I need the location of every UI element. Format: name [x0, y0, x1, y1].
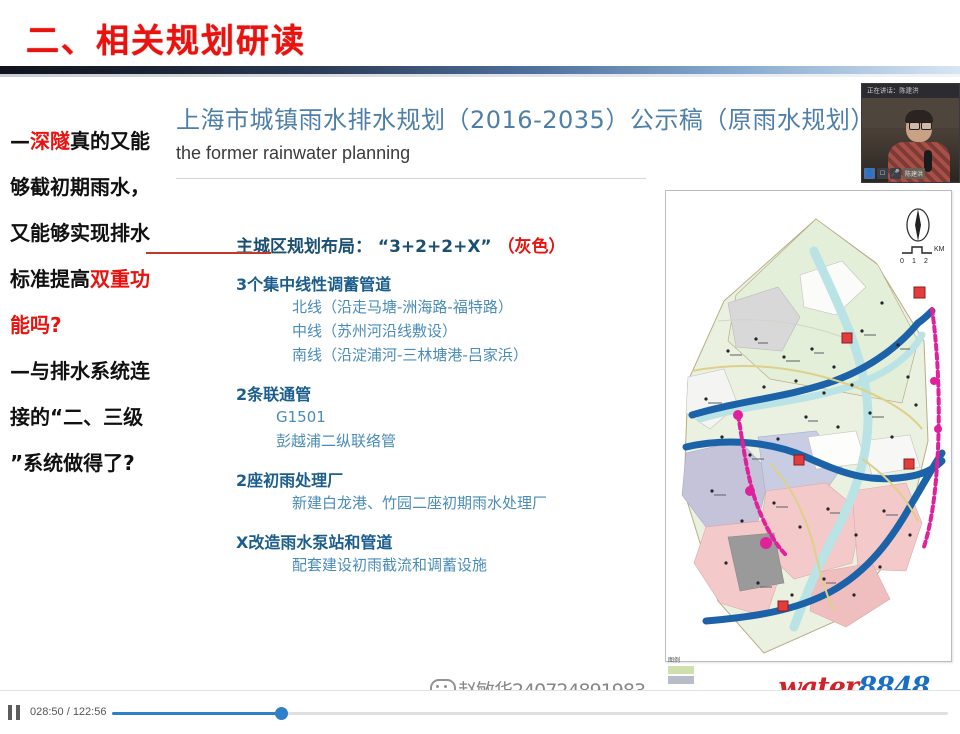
group-head-1: 3个集中线性调蓄管道: [236, 271, 636, 295]
planning-map-panel: KM 0 1 2: [665, 190, 952, 662]
slide-heading-english: the former rainwater planning: [176, 143, 410, 164]
left-line-4-rest: 标准提高: [10, 267, 90, 291]
video-player-bar: 028:50 / 122:56: [0, 690, 960, 734]
share-icon[interactable]: □: [877, 168, 888, 179]
speaker-name-label: 正在讲话：陈建洪: [867, 86, 919, 95]
page-title: 二、相关规划研读: [26, 14, 306, 62]
formula-underline: [146, 252, 271, 254]
heading-underline: [176, 178, 646, 179]
eyeglasses-right-icon: [921, 122, 932, 130]
map-legend-title: 图例: [668, 655, 748, 664]
planning-content-block: 主城区规划布局： “3+2+2+X” （灰色） 3个集中线性调蓄管道 北线（沿走…: [236, 232, 636, 577]
title-divider-shadow: [0, 74, 960, 77]
wechat-watermark: 赵敏华240724891983: [430, 676, 645, 690]
dash-mark: —: [10, 129, 30, 153]
progress-knob[interactable]: [275, 707, 288, 720]
layout-headline: 主城区规划布局： “3+2+2+X” （灰色）: [236, 232, 636, 257]
map-legend: 图例: [668, 655, 748, 687]
svg-text:1: 1: [912, 258, 916, 265]
pause-bar-left: [8, 705, 12, 720]
video-control-icons[interactable]: 👤 □ 🎤 陈建洪: [864, 168, 925, 179]
eyeglasses-left-icon: [909, 122, 920, 130]
left-question-line-2: 够截初期雨水，: [10, 164, 192, 210]
speaker-name-tag: 陈建洪: [903, 168, 925, 179]
microphone-prop: [924, 150, 932, 172]
pause-button[interactable]: [8, 705, 22, 720]
group-head-3: 2座初雨处理厂: [236, 467, 636, 491]
group-4-item-1: 配套建设初雨截流和调蓄设施: [292, 553, 636, 577]
group-head-4: X改造雨水泵站和管道: [236, 529, 636, 553]
speaker-video-thumbnail[interactable]: 正在讲话：陈建洪 👤 □ 🎤 陈建洪: [861, 83, 960, 183]
title-divider-bar: [0, 66, 960, 74]
layout-label: 主城区规划布局：: [236, 237, 372, 257]
left-question-line-1: —深隧真的又能: [10, 118, 192, 164]
speaker-label-bar: 正在讲话：陈建洪: [862, 84, 959, 98]
group-1-item-1: 北线（沿走马塘-洲海路-福特路）: [292, 295, 636, 319]
brand-water-word: water: [779, 672, 859, 690]
group-3-item-1: 新建白龙港、竹园二座初期雨水处理厂: [292, 491, 636, 515]
brand-water-text: water8848.com: [779, 672, 953, 690]
playback-time: 028:50 / 122:56: [30, 706, 106, 718]
wechat-icon: [430, 679, 456, 690]
layout-formula: “3+2+2+X”: [378, 237, 492, 257]
svg-text:2: 2: [924, 258, 928, 265]
group-1-item-2: 中线（苏州河沿线敷设）: [292, 319, 636, 343]
planning-map-svg: KM 0 1 2: [666, 191, 949, 659]
left-question-line-3: 又能够实现排水: [10, 210, 192, 256]
left-question-column: —深隧真的又能 够截初期雨水， 又能够实现排水 标准提高双重功 能吗? —与排水…: [10, 118, 192, 486]
legend-swatch-grey: [668, 676, 694, 684]
left-question-line-4: 标准提高双重功: [10, 256, 192, 302]
group-1-item-3: 南线（沿淀浦河-三林塘港-吕家浜）: [292, 343, 636, 367]
group-head-2: 2条联通管: [236, 381, 636, 405]
presentation-slide: 二、相关规划研读 —深隧真的又能 够截初期雨水， 又能够实现排水 标准提高双重功…: [0, 0, 960, 690]
left-question-line-6: —与排水系统连: [10, 348, 192, 394]
video-feed: 👤 □ 🎤 陈建洪: [862, 98, 959, 182]
progress-track[interactable]: [112, 712, 948, 715]
participant-icon[interactable]: 👤: [864, 168, 875, 179]
left-line-1-red: 深隧: [30, 129, 70, 153]
left-question-line-7: 接的“二、三级: [10, 394, 192, 440]
svg-text:KM: KM: [934, 246, 945, 253]
progress-fill: [112, 712, 281, 715]
brand-digits: 8848: [858, 672, 929, 690]
svg-text:0: 0: [900, 258, 904, 265]
left-question-line-8: ”系统做得了?: [10, 440, 192, 486]
pause-bar-right: [16, 705, 20, 720]
mic-icon[interactable]: 🎤: [890, 168, 901, 179]
legend-swatch-green: [668, 666, 694, 674]
left-line-1-rest: 真的又能: [70, 129, 150, 153]
left-line-4-red: 双重功: [90, 267, 150, 291]
group-2-item-1: G1501: [276, 405, 636, 429]
wechat-watermark-text: 赵敏华240724891983: [458, 680, 645, 690]
left-question-line-5: 能吗?: [10, 302, 192, 348]
site-logo-watermark: water8848.com 中国水业网: [779, 672, 953, 690]
layout-note: （灰色）: [498, 237, 566, 257]
slide-heading-chinese: 上海市城镇雨水排水规划（2016-2035）公示稿（原雨水规划）: [176, 100, 875, 135]
group-2-item-2: 彭越浦二纵联络管: [276, 429, 636, 453]
